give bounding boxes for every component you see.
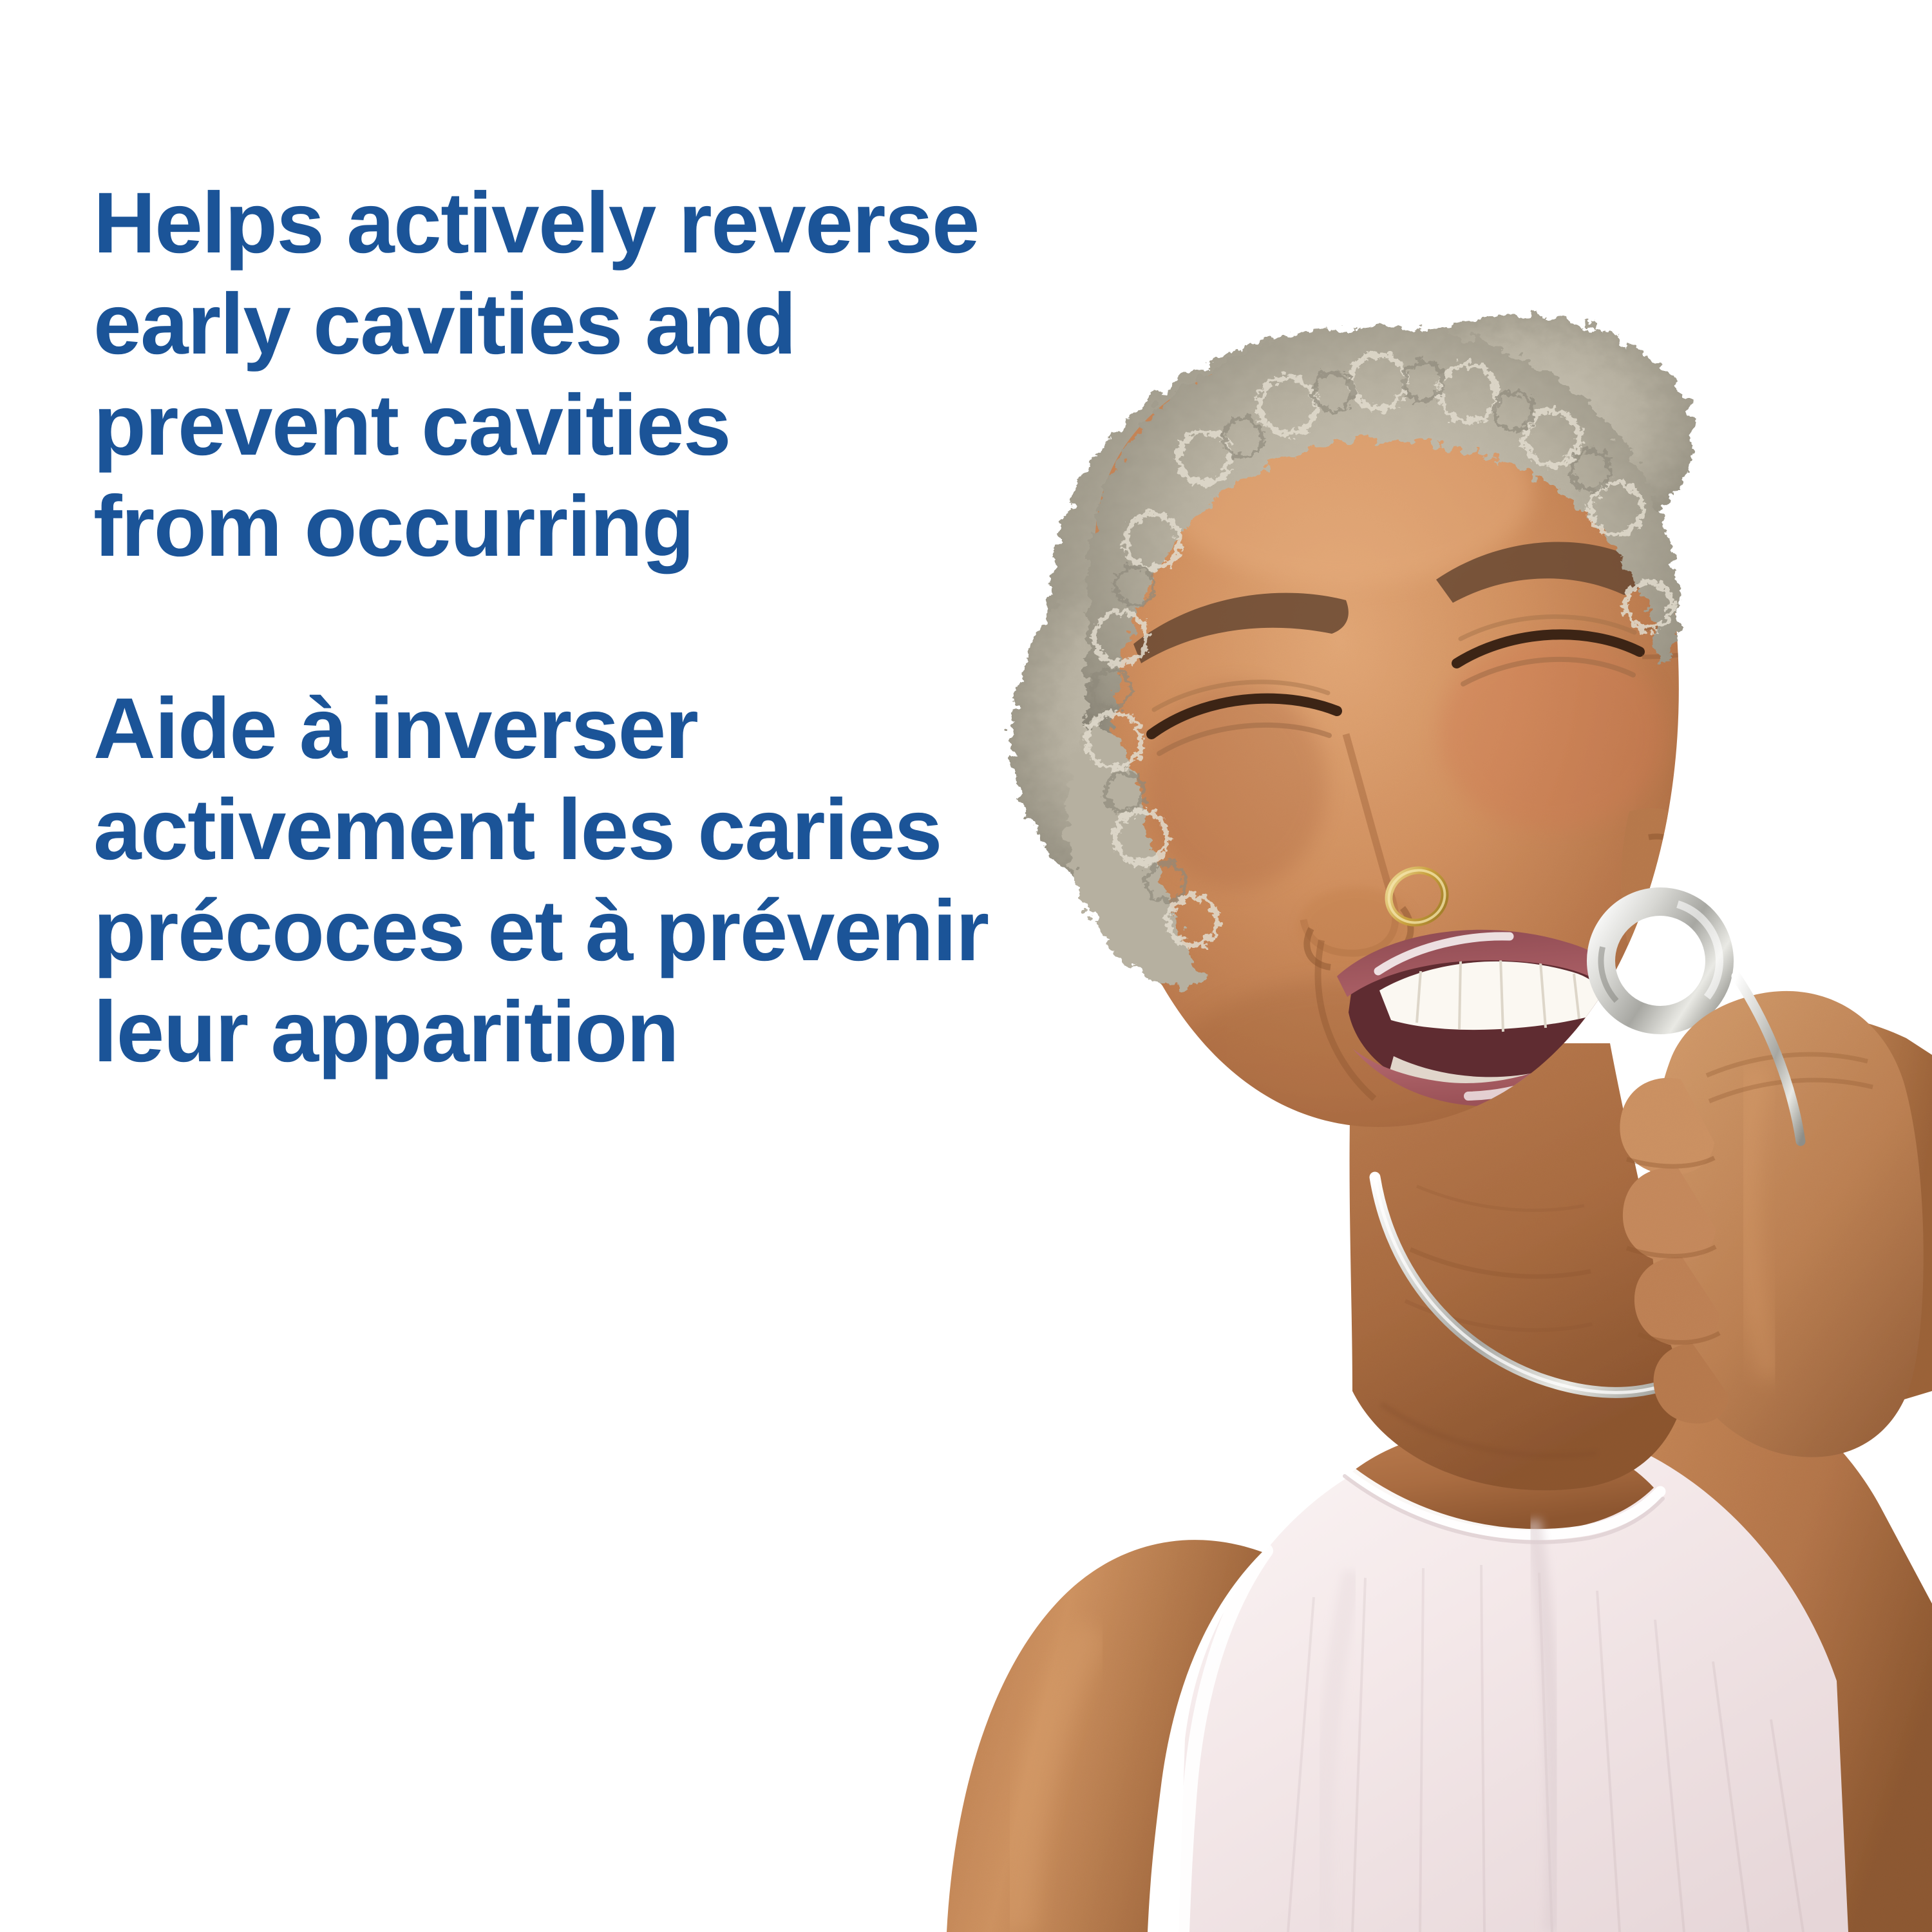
earring bbox=[1590, 891, 1730, 1031]
cheek-shadow bbox=[1146, 683, 1327, 889]
cheek-blush bbox=[1439, 638, 1665, 831]
ad-banner: Helps actively reverse early cavities an… bbox=[0, 0, 1932, 1932]
ear bbox=[1621, 808, 1710, 965]
headline-french: Aide à inverser activement les caries pr… bbox=[93, 678, 1098, 1083]
headline-copy-block: Helps actively reverse early cavities an… bbox=[93, 173, 1098, 1083]
headline-english: Helps actively reverse early cavities an… bbox=[93, 173, 1098, 577]
